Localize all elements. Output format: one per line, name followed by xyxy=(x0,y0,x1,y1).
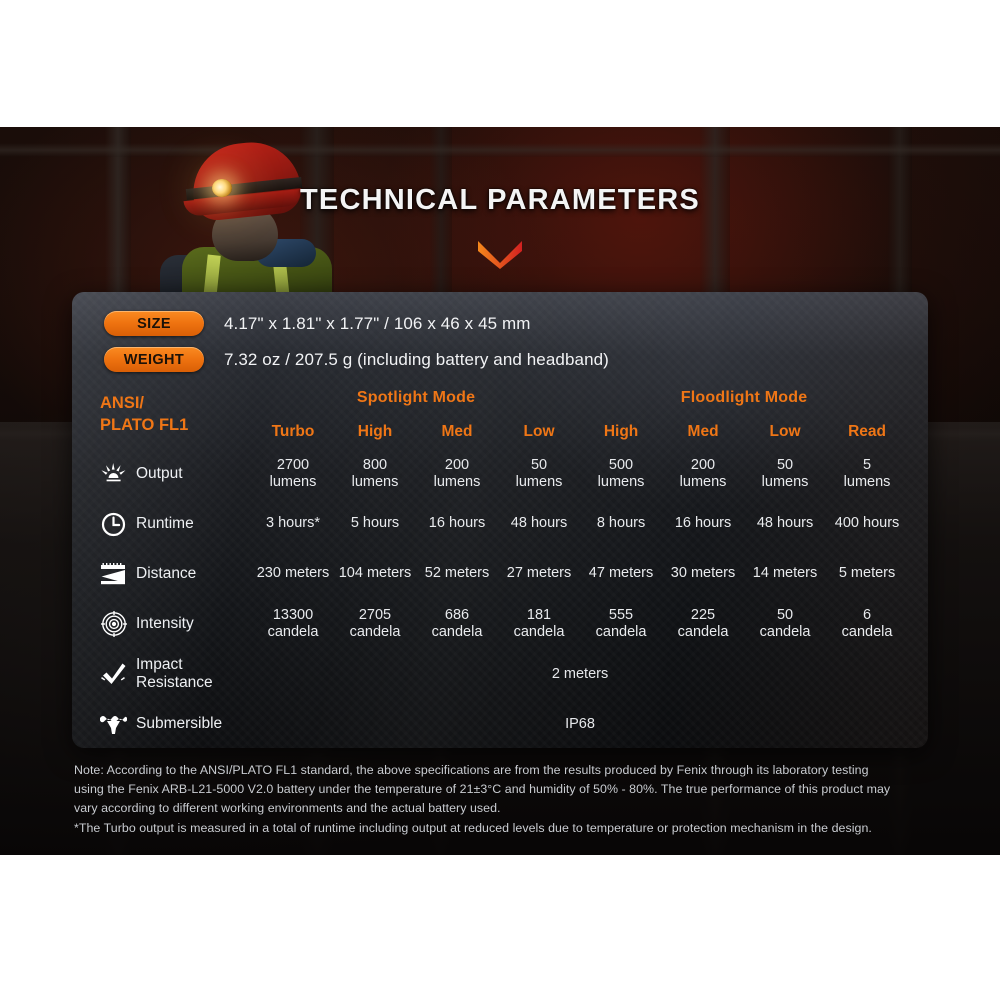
cell-intensity-spot-turbo: 13300candela xyxy=(252,599,334,649)
title-container: TECHNICAL PARAMETERS xyxy=(0,184,1000,217)
cell-intensity-flood-high: 555candela xyxy=(580,599,662,649)
row-label-text: Output xyxy=(136,465,183,483)
mode-header-spot-low: Low xyxy=(498,414,580,449)
table-row: Submersible IP68 xyxy=(100,699,908,748)
mode-header-flood-high: High xyxy=(580,414,662,449)
row-label-submersible: Submersible xyxy=(100,699,252,748)
specifications-table: ANSI/ PLATO FL1 Spotlight Mode Floodligh… xyxy=(100,381,908,748)
cell-intensity-flood-read: 6candela xyxy=(826,599,908,649)
cell-distance-flood-high: 47 meters xyxy=(580,549,662,599)
chevron-down-icon xyxy=(476,239,524,274)
footnote-block: Note: According to the ANSI/PLATO FL1 st… xyxy=(74,761,940,838)
cell-submersible-value: IP68 xyxy=(252,699,908,748)
cell-intensity-spot-low: 181candela xyxy=(498,599,580,649)
specifications-panel: SIZE 4.17" x 1.81" x 1.77" / 106 x 46 x … xyxy=(72,292,928,748)
weight-badge: WEIGHT xyxy=(104,347,204,372)
impact-arrow-icon xyxy=(100,661,127,688)
row-label-text: Distance xyxy=(136,565,196,583)
clock-icon xyxy=(100,511,127,538)
cell-distance-spot-med: 52 meters xyxy=(416,549,498,599)
ansi-line-1: ANSI/ xyxy=(100,393,252,415)
cell-runtime-spot-low: 48 hours xyxy=(498,499,580,549)
cell-output-spot-low: 50lumens xyxy=(498,449,580,499)
row-label-intensity: Intensity xyxy=(100,599,252,649)
cell-impact-resistance-value: 2 meters xyxy=(252,649,908,699)
mode-header-spot-high: High xyxy=(334,414,416,449)
footnote-line-3: vary according to different working envi… xyxy=(74,799,940,818)
ansi-line-2: PLATO FL1 xyxy=(100,415,252,437)
hero-scene: TECHNICAL PARAMETERS xyxy=(0,127,1000,855)
group-header-floodlight: Floodlight Mode xyxy=(580,381,908,414)
cell-runtime-flood-med: 16 hours xyxy=(662,499,744,549)
cell-output-flood-read: 5lumens xyxy=(826,449,908,499)
mode-header-spot-med: Med xyxy=(416,414,498,449)
cell-distance-spot-high: 104 meters xyxy=(334,549,416,599)
footnote-line-4: *The Turbo output is measured in a total… xyxy=(74,819,940,838)
cell-runtime-spot-high: 5 hours xyxy=(334,499,416,549)
cell-intensity-flood-low: 50candela xyxy=(744,599,826,649)
cell-runtime-flood-read: 400 hours xyxy=(826,499,908,549)
ansi-plato-label: ANSI/ PLATO FL1 xyxy=(100,381,252,449)
page-root: TECHNICAL PARAMETERS xyxy=(0,0,1000,1000)
row-label-impact-resistance: Impact Resistance xyxy=(100,649,252,699)
size-weight-block: SIZE 4.17" x 1.81" x 1.77" / 106 x 46 x … xyxy=(104,308,906,380)
weight-row: WEIGHT 7.32 oz / 207.5 g (including batt… xyxy=(104,344,906,375)
page-title: TECHNICAL PARAMETERS xyxy=(300,184,700,217)
table-row: Intensity 13300candela 2705candela 686ca… xyxy=(100,599,908,649)
cell-intensity-spot-high: 2705candela xyxy=(334,599,416,649)
size-badge: SIZE xyxy=(104,311,204,336)
table-row: Runtime 3 hours* 5 hours 16 hours 48 hou… xyxy=(100,499,908,549)
table-row: Output 2700lumens 800lumens 200lumens 50… xyxy=(100,449,908,499)
mode-header-flood-low: Low xyxy=(744,414,826,449)
row-label-runtime: Runtime xyxy=(100,499,252,549)
row-label-text: Runtime xyxy=(136,515,194,533)
row-label-distance: Distance xyxy=(100,549,252,599)
size-value: 4.17" x 1.81" x 1.77" / 106 x 46 x 45 mm xyxy=(224,314,531,334)
cell-output-spot-turbo: 2700lumens xyxy=(252,449,334,499)
chevron-container xyxy=(0,239,1000,274)
cell-distance-flood-med: 30 meters xyxy=(662,549,744,599)
cell-distance-flood-low: 14 meters xyxy=(744,549,826,599)
cell-distance-spot-turbo: 230 meters xyxy=(252,549,334,599)
row-label-text: Submersible xyxy=(136,715,222,733)
sun-burst-icon xyxy=(100,461,127,488)
mode-header-spot-turbo: Turbo xyxy=(252,414,334,449)
footnote-line-2: using the Fenix ARB-L21-5000 V2.0 batter… xyxy=(74,780,940,799)
group-header-spotlight: Spotlight Mode xyxy=(252,381,580,414)
cell-runtime-spot-med: 16 hours xyxy=(416,499,498,549)
footnote-line-1: Note: According to the ANSI/PLATO FL1 st… xyxy=(74,761,940,780)
mode-header-flood-med: Med xyxy=(662,414,744,449)
background-rail xyxy=(0,143,1000,157)
size-row: SIZE 4.17" x 1.81" x 1.77" / 106 x 46 x … xyxy=(104,308,906,339)
cell-output-flood-high: 500lumens xyxy=(580,449,662,499)
cell-output-flood-med: 200lumens xyxy=(662,449,744,499)
beam-distance-icon xyxy=(100,561,127,588)
cell-runtime-spot-turbo: 3 hours* xyxy=(252,499,334,549)
row-label-output: Output xyxy=(100,449,252,499)
row-label-text: Intensity xyxy=(136,615,194,633)
weight-value: 7.32 oz / 207.5 g (including battery and… xyxy=(224,350,609,370)
table-row: Distance 230 meters 104 meters 52 meters… xyxy=(100,549,908,599)
cell-runtime-flood-low: 48 hours xyxy=(744,499,826,549)
table-row: Impact Resistance 2 meters xyxy=(100,649,908,699)
cell-intensity-spot-med: 686candela xyxy=(416,599,498,649)
cell-output-spot-high: 800lumens xyxy=(334,449,416,499)
target-icon xyxy=(100,611,127,638)
cell-runtime-flood-high: 8 hours xyxy=(580,499,662,549)
cell-intensity-flood-med: 225candela xyxy=(662,599,744,649)
cell-output-spot-med: 200lumens xyxy=(416,449,498,499)
cell-distance-spot-low: 27 meters xyxy=(498,549,580,599)
water-drop-arrow-icon xyxy=(100,711,127,738)
row-label-text: Impact Resistance xyxy=(136,656,213,692)
cell-distance-flood-read: 5 meters xyxy=(826,549,908,599)
table-group-header-row: ANSI/ PLATO FL1 Spotlight Mode Floodligh… xyxy=(100,381,908,414)
cell-output-flood-low: 50lumens xyxy=(744,449,826,499)
mode-header-flood-read: Read xyxy=(826,414,908,449)
